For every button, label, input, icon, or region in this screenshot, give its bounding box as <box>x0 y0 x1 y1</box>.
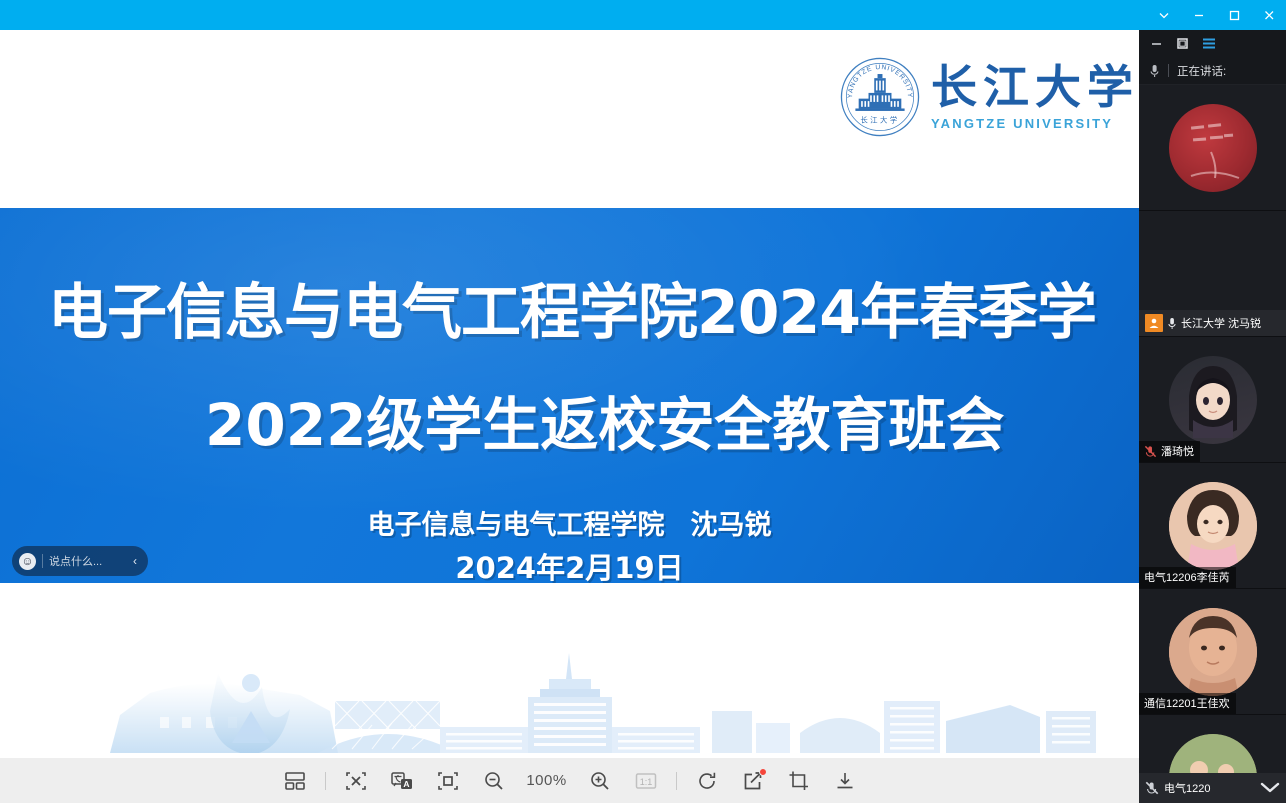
participant-name: 潘琦悦 <box>1161 443 1194 459</box>
person-portrait-icon <box>1169 482 1257 570</box>
zoom-out-button[interactable] <box>471 758 517 803</box>
participant-bottom-bar[interactable]: 电气1220 <box>1139 773 1286 803</box>
panel-window-controls <box>1139 30 1286 57</box>
translate-button[interactable]: A <box>379 758 425 803</box>
fit-screen-button[interactable] <box>425 758 471 803</box>
rotate-cw-icon <box>696 770 718 792</box>
slide-header: YANGTZE UNIVERSITY <box>0 30 1139 208</box>
participant-tile[interactable] <box>1139 85 1286 211</box>
svg-text:A: A <box>403 779 409 789</box>
university-seal-icon: YANGTZE UNIVERSITY <box>839 56 921 138</box>
participant-name: 长江大学 沈马锐 <box>1181 315 1261 331</box>
microphone-icon <box>1167 317 1177 330</box>
university-logo: YANGTZE UNIVERSITY <box>839 56 1139 138</box>
self-user-icon <box>1145 314 1163 332</box>
viewer-toolbar: A 100% <box>0 758 1139 803</box>
microphone-icon <box>1149 64 1160 78</box>
slide-date: 2024年2月19日 <box>0 545 1139 583</box>
slide-title-line1: 电子信息与电气工程学院2024年春季学 <box>48 264 1096 351</box>
panel-list-icon[interactable] <box>1201 36 1216 51</box>
close-icon[interactable] <box>1251 0 1286 30</box>
crop-icon <box>788 770 810 792</box>
slide-subtitle-org: 电子信息与电气工程学院 <box>368 510 665 541</box>
participant-name: 通信12201王佳欢 <box>1144 695 1230 711</box>
participant-name-bar: 潘琦悦 <box>1139 441 1200 462</box>
participant-name-bar: 电气12206李佳芮 <box>1139 567 1236 588</box>
toolbar-separator-2 <box>676 772 677 790</box>
microphone-muted-icon <box>1145 781 1159 795</box>
smiley-icon[interactable]: ☺ <box>19 553 36 570</box>
participant-tile[interactable]: 潘琦悦 <box>1139 337 1286 463</box>
shared-screen-stage: YANGTZE UNIVERSITY <box>0 30 1139 758</box>
avatar <box>1169 356 1257 444</box>
red-seal-photo-icon <box>1169 104 1257 192</box>
slide-title-band: 电子信息与电气工程学院2024年春季学 2022级学生返校安全教育班会 电子信息… <box>0 208 1139 583</box>
participant-name: 电气1220 <box>1164 780 1255 796</box>
speaking-status: 正在讲话: <box>1139 57 1286 85</box>
rotate-button[interactable] <box>684 758 730 803</box>
participant-tile-self[interactable]: 长江大学 沈马锐 <box>1139 211 1286 337</box>
toolbar-separator <box>325 772 326 790</box>
participants-panel: 正在讲话: <box>1139 30 1286 803</box>
panel-restore-icon[interactable] <box>1175 36 1190 51</box>
download-icon <box>834 770 856 792</box>
university-wordmark: 长江大学 YANGTZE UNIVERSITY <box>931 63 1139 130</box>
annotate-notification-badge <box>759 768 767 776</box>
slide-footer-cityscape <box>0 583 1139 758</box>
face-portrait-icon <box>1169 608 1257 696</box>
zoom-in-button[interactable] <box>577 758 623 803</box>
participant-name-bar: 通信12201王佳欢 <box>1139 693 1236 714</box>
fit-screen-icon <box>437 770 459 792</box>
window-title-bar <box>0 0 1286 30</box>
minimize-icon[interactable] <box>1181 0 1216 30</box>
layout-view-button[interactable] <box>272 758 318 803</box>
microphone-muted-icon <box>1144 445 1157 458</box>
chevron-down-icon[interactable] <box>1146 0 1181 30</box>
actual-size-button[interactable]: 1:1 <box>623 758 669 803</box>
slide-title-line2: 2022级学生返校安全教育班会 <box>205 378 1004 462</box>
participant-tile[interactable]: 电气12206李佳芮 <box>1139 463 1286 589</box>
text-select-icon <box>345 770 367 792</box>
participant-name-bar: 长江大学 沈马锐 <box>1139 310 1286 336</box>
chevron-down-icon[interactable] <box>1260 780 1280 797</box>
participant-name: 电气12206李佳芮 <box>1144 569 1230 585</box>
comment-input-bar[interactable]: ☺ 说点什么... ‹ <box>12 546 148 576</box>
layout-grid-icon <box>284 770 306 792</box>
annotate-button[interactable] <box>730 758 776 803</box>
anime-portrait-icon <box>1169 356 1257 444</box>
panel-minimize-icon[interactable] <box>1149 36 1164 51</box>
crop-button[interactable] <box>776 758 822 803</box>
participant-tile[interactable]: 通信12201王佳欢 <box>1139 589 1286 715</box>
window-controls <box>1146 0 1286 30</box>
university-name-en: YANGTZE UNIVERSITY <box>931 116 1139 131</box>
slide-subtitle: 电子信息与电气工程学院沈马锐 <box>0 503 1139 542</box>
university-name-cn: 长江大学 <box>931 63 1139 111</box>
avatar <box>1169 482 1257 570</box>
translate-icon: A <box>390 770 414 792</box>
zoom-out-icon <box>483 770 505 792</box>
avatar <box>1169 608 1257 696</box>
slide-subtitle-presenter: 沈马锐 <box>691 510 772 541</box>
maximize-icon[interactable] <box>1216 0 1251 30</box>
download-button[interactable] <box>822 758 868 803</box>
one-to-one-icon: 1:1 <box>634 770 658 792</box>
speaking-status-label: 正在讲话: <box>1177 63 1226 79</box>
zoom-in-icon <box>589 770 611 792</box>
svg-text:长江大学: 长江大学 <box>860 115 899 124</box>
comment-divider <box>42 554 43 568</box>
zoom-level-label: 100% <box>517 772 577 789</box>
chevron-left-icon[interactable]: ‹ <box>126 554 144 568</box>
avatar <box>1169 104 1257 192</box>
comment-input-placeholder[interactable]: 说点什么... <box>49 553 126 569</box>
cityscape-illustration-icon <box>0 583 1139 758</box>
svg-text:1:1: 1:1 <box>639 777 652 787</box>
text-select-button[interactable] <box>333 758 379 803</box>
